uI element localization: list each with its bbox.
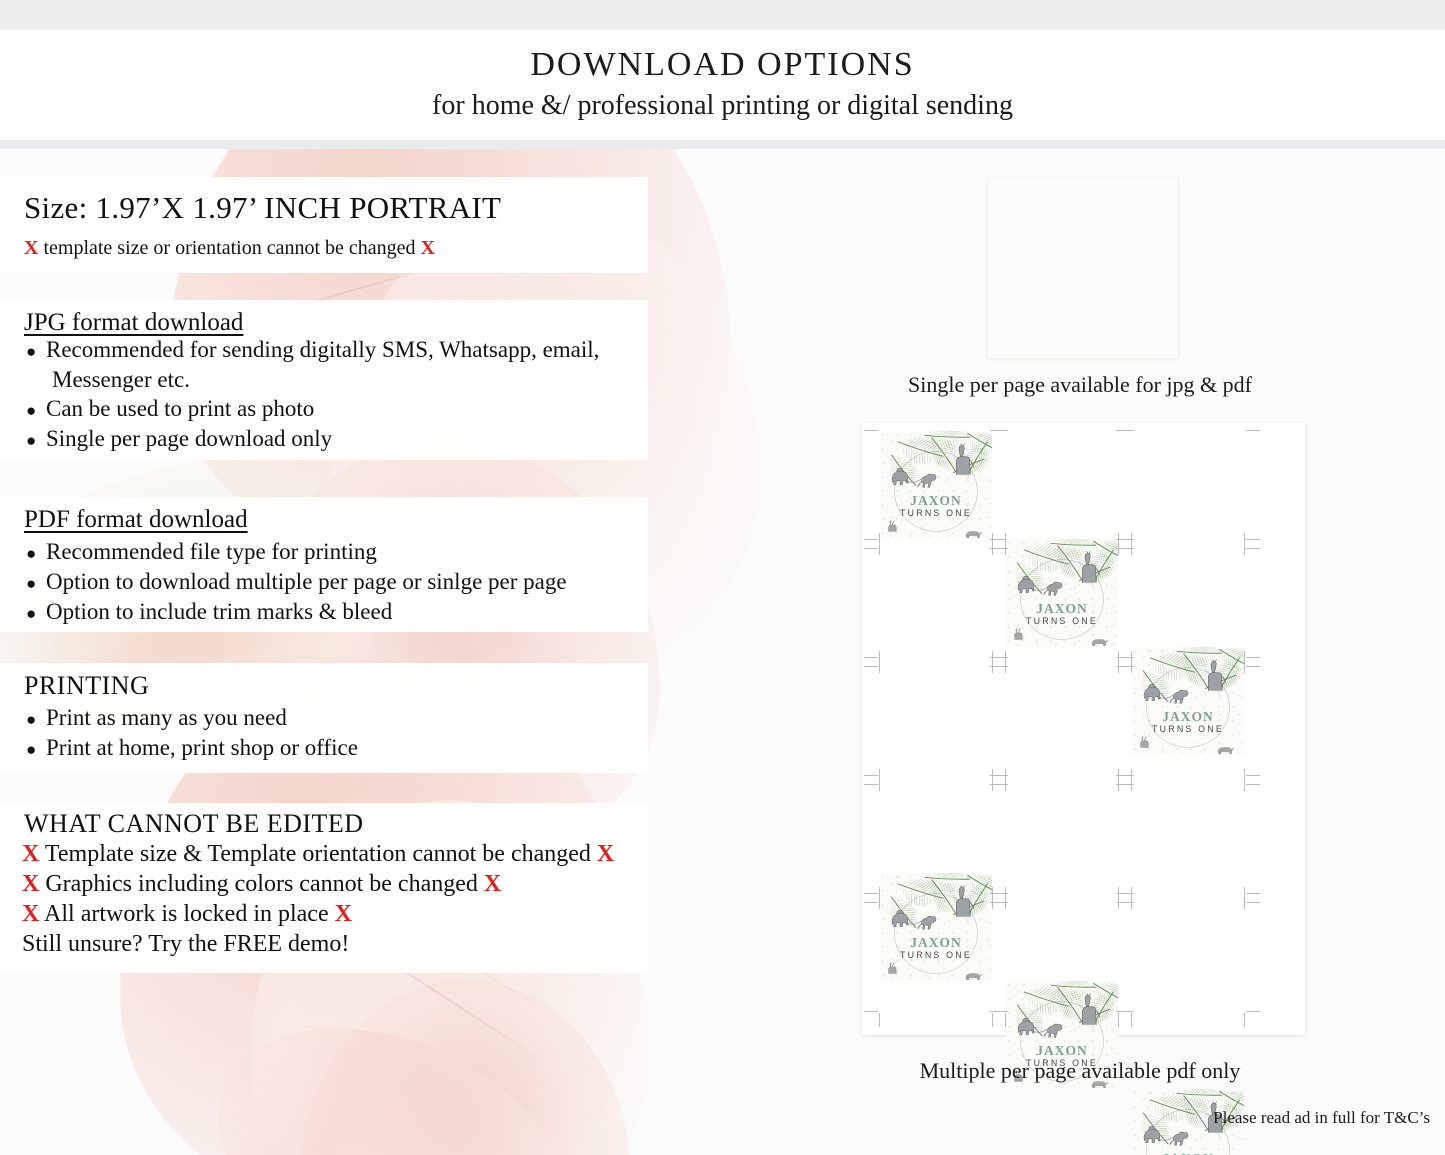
card-subtitle: TURNS ONE — [1006, 616, 1118, 626]
trim-mark — [1116, 784, 1130, 785]
trim-mark — [879, 769, 880, 783]
download-options-listing-image: DOWNLOAD OPTIONS for home &/ professiona… — [0, 0, 1445, 1155]
cannot-edit-heading: WHAT CANNOT BE EDITED — [24, 809, 364, 839]
trim-mark — [1005, 887, 1006, 901]
trim-mark — [1244, 651, 1245, 665]
trim-mark — [992, 887, 993, 901]
size-note-text: template size or orientation cannot be c… — [43, 237, 415, 259]
card-name: JAXON — [880, 935, 992, 951]
trim-mark — [990, 548, 1004, 549]
cannot-edit-mark-3-right: X — [335, 901, 352, 927]
printing-bullet-2: ● — [26, 740, 36, 760]
trim-mark — [1244, 769, 1245, 783]
trim-mark — [1118, 533, 1119, 547]
card-artwork — [880, 873, 992, 981]
cannot-edit-text-1: Template size & Template orientation can… — [45, 841, 591, 867]
trim-mark — [990, 666, 1004, 667]
trim-mark — [864, 775, 878, 776]
card-subtitle: TURNS ONE — [1132, 724, 1244, 734]
trim-mark — [1116, 1011, 1130, 1012]
card-name: JAXON — [1006, 601, 1118, 617]
page-subtitle: for home &/ professional printing or dig… — [0, 90, 1445, 122]
jpg-heading: JPG format download — [24, 309, 243, 337]
trim-mark — [879, 887, 880, 901]
trim-mark — [864, 784, 878, 785]
printing-heading: PRINTING — [24, 671, 149, 701]
trim-mark — [1116, 430, 1130, 431]
trim-mark — [1116, 548, 1130, 549]
trim-mark — [992, 1013, 993, 1027]
trim-mark — [990, 902, 1004, 903]
trim-mark — [1005, 533, 1006, 547]
card-name: JAXON — [1132, 709, 1244, 725]
cannot-edit-text-3: All artwork is locked in place — [44, 901, 329, 927]
trim-mark — [990, 430, 1004, 431]
cannot-edit-line-1: X Template size & Template orientation c… — [22, 841, 614, 868]
trim-mark — [1246, 1011, 1260, 1012]
trim-mark — [1246, 784, 1260, 785]
page-title: DOWNLOAD OPTIONS — [0, 46, 1445, 84]
trim-mark — [1118, 1013, 1119, 1027]
cannot-edit-footer: Still unsure? Try the FREE demo! — [22, 931, 349, 958]
cannot-edit-mark-1-left: X — [22, 841, 39, 867]
trim-mark — [1246, 666, 1260, 667]
trim-mark — [1244, 1013, 1245, 1027]
cannot-edit-line-2: X Graphics including colors cannot be ch… — [22, 871, 501, 898]
trim-mark — [1116, 902, 1130, 903]
cannot-edit-mark-2-left: X — [22, 871, 39, 897]
single-preview-caption: Single per page available for jpg & pdf — [845, 372, 1315, 398]
card-subtitle: TURNS ONE — [880, 508, 992, 518]
trim-mark — [1246, 548, 1260, 549]
trim-mark — [864, 893, 878, 894]
pdf-bullet-3: ● — [26, 604, 36, 624]
pdf-bullet-2: ● — [26, 574, 36, 594]
trim-mark — [864, 657, 878, 658]
trim-mark — [1131, 769, 1132, 783]
trim-mark — [1118, 651, 1119, 665]
trim-mark — [1246, 539, 1260, 540]
jpg-bullet-1: ● — [26, 342, 36, 362]
trim-mark — [1131, 533, 1132, 547]
sheet-card: JAXONTURNS ONE — [1132, 647, 1244, 755]
card-artwork — [880, 431, 992, 539]
trim-mark — [992, 651, 993, 665]
trim-mark — [1005, 769, 1006, 783]
trim-mark — [879, 651, 880, 665]
top-band — [0, 0, 1445, 30]
pdf-item-3: Option to include trim marks & bleed — [46, 599, 392, 625]
trim-mark — [990, 784, 1004, 785]
card-name: JAXON — [880, 493, 992, 509]
trim-mark — [990, 1011, 1004, 1012]
trim-mark — [1116, 666, 1130, 667]
size-note-row: X template size or orientation cannot be… — [24, 237, 435, 260]
size-note-mark-right: X — [421, 237, 435, 259]
trim-mark — [1246, 893, 1260, 894]
jpg-item-3: Single per page download only — [46, 426, 332, 452]
trim-mark — [1244, 887, 1245, 901]
jpg-item-2: Can be used to print as photo — [46, 396, 314, 422]
trim-mark — [1244, 533, 1245, 547]
pdf-item-1: Recommended file type for printing — [46, 539, 377, 565]
multi-preview-caption: Multiple per page available pdf only — [845, 1058, 1315, 1084]
sheet-card: JAXONTURNS ONE — [880, 873, 992, 981]
printing-bullet-1: ● — [26, 710, 36, 730]
printing-item-2: Print at home, print shop or office — [46, 735, 358, 761]
trim-mark — [1246, 775, 1260, 776]
size-note-mark-left: X — [24, 237, 38, 259]
floral-background — [0, 140, 790, 1155]
cannot-edit-line-3: X All artwork is locked in place X — [22, 901, 352, 928]
pdf-item-2: Option to download multiple per page or … — [46, 569, 567, 595]
trim-mark — [992, 769, 993, 783]
cannot-edit-mark-2-right: X — [484, 871, 501, 897]
trim-mark — [992, 533, 993, 547]
terms-note: Please read ad in full for T&C’s — [1060, 1108, 1444, 1128]
printing-item-1: Print as many as you need — [46, 705, 287, 731]
card-name: JAXON — [1132, 1151, 1244, 1155]
cannot-edit-mark-3-left: X — [22, 901, 39, 927]
trim-mark — [1131, 887, 1132, 901]
cannot-edit-text-2: Graphics including colors cannot be chan… — [45, 871, 478, 897]
sheet-card: JAXONTURNS ONE — [1006, 539, 1118, 647]
trim-mark — [864, 548, 878, 549]
pdf-heading: PDF format download — [24, 506, 248, 534]
trim-mark — [864, 902, 878, 903]
jpg-bullet-2: ● — [26, 401, 36, 421]
trim-mark — [1005, 1013, 1006, 1027]
trim-mark — [1118, 769, 1119, 783]
cannot-edit-mark-1-right: X — [597, 841, 614, 867]
jpg-item-1-cont: Messenger etc. — [52, 367, 190, 393]
pdf-bullet-1: ● — [26, 544, 36, 564]
jpg-bullet-3: ● — [26, 431, 36, 451]
trim-mark — [879, 1013, 880, 1027]
trim-mark — [1246, 902, 1260, 903]
trim-mark — [1246, 430, 1260, 431]
card-name: JAXON — [1006, 1043, 1118, 1059]
trim-mark — [864, 430, 878, 431]
header-divider — [0, 140, 1445, 149]
trim-mark — [864, 666, 878, 667]
card-artwork — [1132, 647, 1244, 755]
trim-mark — [864, 539, 878, 540]
trim-mark — [1118, 887, 1119, 901]
trim-mark — [1131, 1013, 1132, 1027]
jpg-item-1: Recommended for sending digitally SMS, W… — [46, 337, 599, 363]
trim-mark — [1005, 651, 1006, 665]
multiple-per-page-sheet: JAXONTURNS ONEJAXONTURNS ONEJAXONTURNS O… — [862, 423, 1305, 1035]
trim-mark — [1246, 657, 1260, 658]
card-subtitle: TURNS ONE — [880, 950, 992, 960]
card-artwork — [1006, 539, 1118, 647]
size-heading: Size: 1.97’X 1.97’ INCH PORTRAIT — [24, 190, 501, 226]
trim-mark — [864, 1011, 878, 1012]
trim-mark — [879, 533, 880, 547]
sheet-card: JAXONTURNS ONE — [880, 431, 992, 539]
trim-mark — [1131, 651, 1132, 665]
single-per-page-preview: JAXONTURNS ONE — [988, 178, 1178, 358]
